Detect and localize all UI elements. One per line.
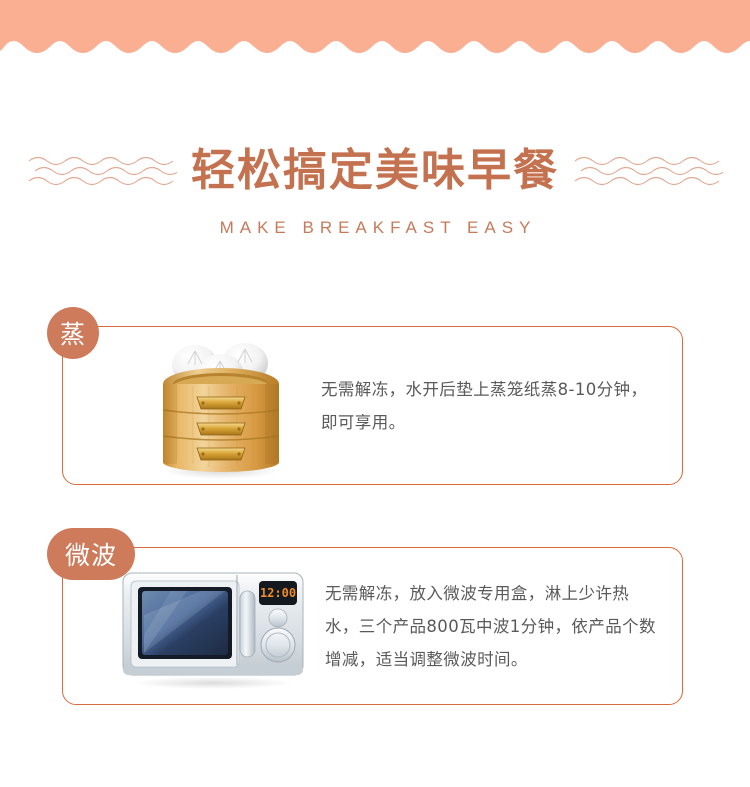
wavy-decoration-right: [573, 149, 723, 193]
title-row: 轻松搞定美味早餐: [0, 140, 750, 202]
microwave-display-value: 12:00: [260, 586, 296, 600]
page-header: 轻松搞定美味早餐 MAKE BREAKFAST EASY: [0, 140, 750, 238]
page-subtitle: MAKE BREAKFAST EASY: [0, 218, 750, 238]
badge-steam-label: 蒸: [60, 315, 86, 351]
wavy-decoration-left: [27, 149, 177, 193]
instruction-card-microwave: 微波: [62, 547, 683, 705]
badge-microwave: 微波: [47, 528, 135, 580]
page-title: 轻松搞定美味早餐: [191, 149, 559, 193]
steam-instruction-text: 无需解冻，水开后垫上蒸笼纸蒸8-10分钟，即可享用。: [321, 373, 662, 439]
bamboo-steamer-icon: [141, 331, 301, 481]
steamer-handles: [197, 397, 245, 460]
banner-scallop-edge: [0, 35, 750, 55]
badge-steam: 蒸: [47, 307, 99, 359]
microwave-instruction-text: 无需解冻，放入微波专用盒，淋上少许热水，三个产品800瓦中波1分钟，依产品个数增…: [325, 577, 662, 676]
instruction-card-steam: 蒸: [62, 326, 683, 485]
banner-fill: [0, 0, 750, 36]
top-scalloped-banner: [0, 0, 750, 53]
microwave-oven-icon: 12:00: [113, 561, 313, 691]
badge-microwave-label: 微波: [65, 536, 117, 572]
